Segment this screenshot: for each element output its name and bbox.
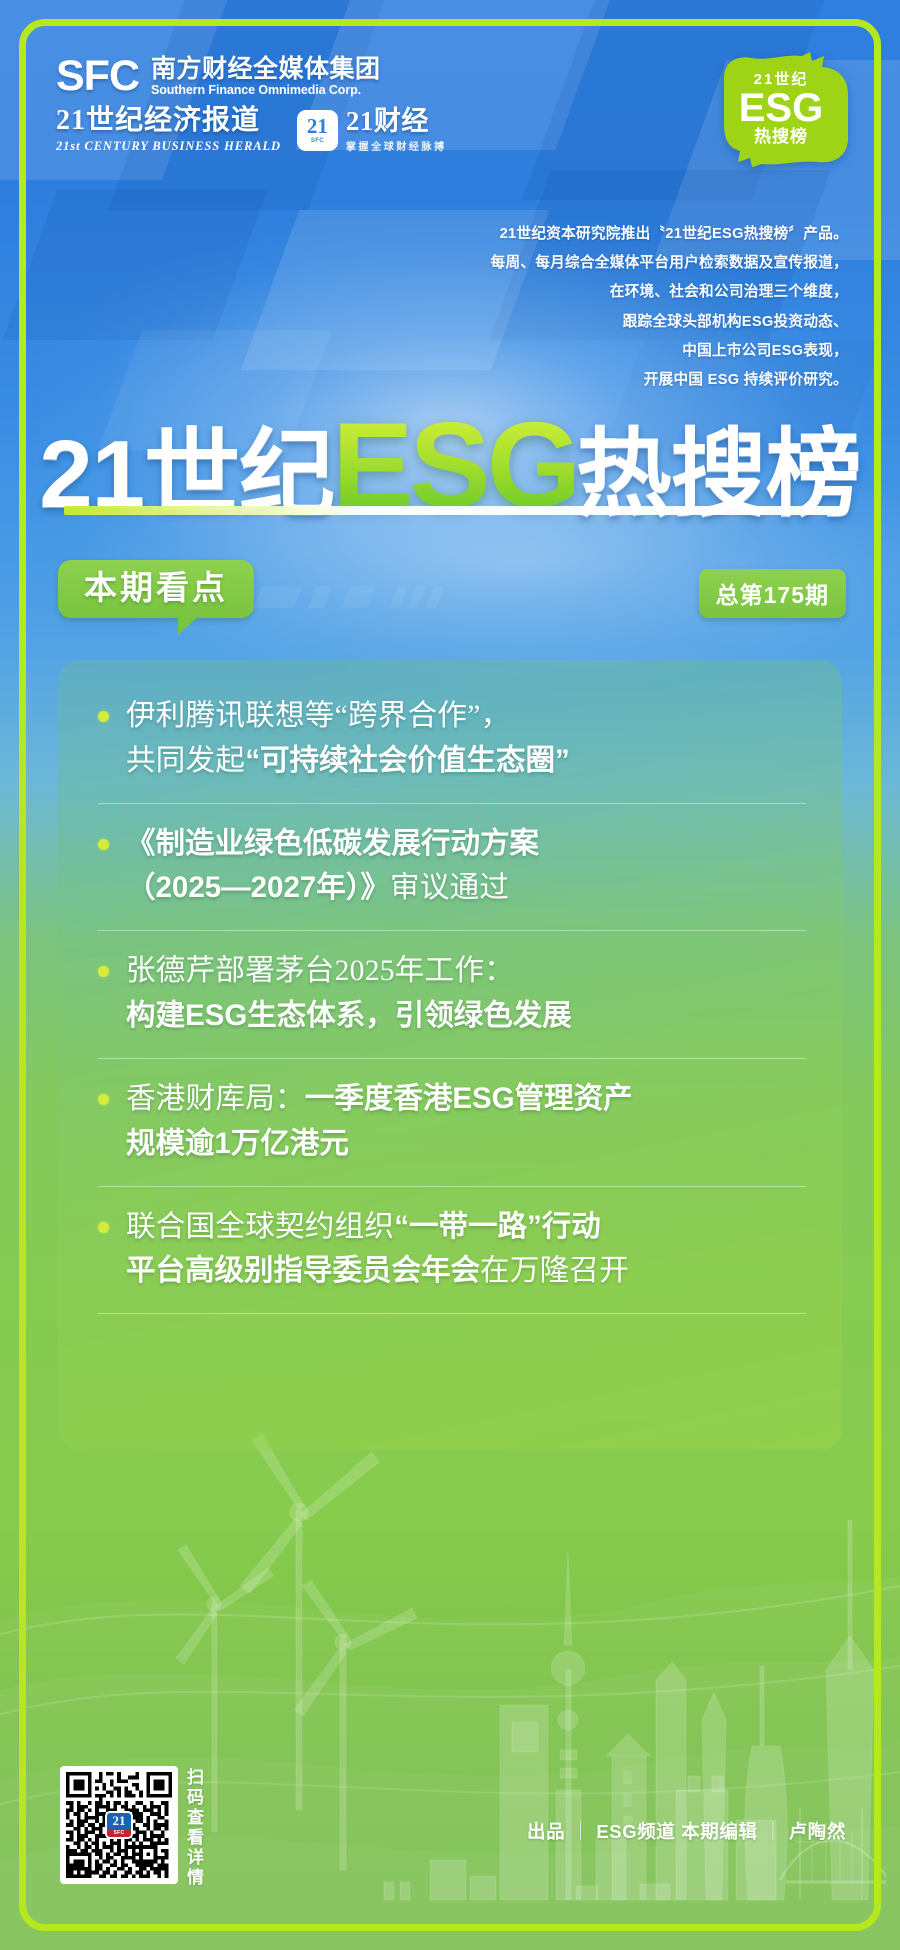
list-item[interactable]: 伊利腾讯联想等“跨界合作”， 共同发起“可持续社会价值生态圈” (92, 694, 810, 784)
headline-text: 共同发起 (126, 745, 245, 777)
headline-text: 香港财库局： (126, 1083, 305, 1115)
footer-producer-label: 出品 (527, 1821, 565, 1842)
description-line: 开展中国 ESG 持续评价研究。 (491, 366, 848, 395)
headline-text: 审议通过 (390, 872, 509, 904)
section-tab-label: 本期看点 (84, 569, 228, 606)
list-divider (98, 1186, 806, 1187)
bullet-icon (98, 1222, 109, 1233)
brand-header: SFC 南方财经全媒体集团 Southern Finance Omnimedia… (56, 56, 447, 154)
headline-text-emphasis: 平台高级别指导委员会年会 (126, 1254, 480, 1287)
hero-underline-bar (64, 506, 844, 515)
headline-list-card: 伊利腾讯联想等“跨界合作”， 共同发起“可持续社会价值生态圈” 《制造业绿色低碳… (58, 660, 842, 1450)
description-line: 跟踪全球头部机构ESG投资动态、 (491, 308, 848, 337)
herald-english-name: 21st CENTURY BUSINESS HERALD (56, 139, 281, 154)
headline-text: 在万隆召开 (480, 1255, 629, 1287)
footer-channel: ESG频道 (596, 1821, 675, 1842)
footer-divider: ｜ (764, 1821, 783, 1842)
list-item[interactable]: 《制造业绿色低碳发展行动方案 （2025—2027年）》审议通过 (92, 822, 810, 912)
esg-leaf-badge: 21世纪 ESG 热搜榜 (706, 52, 856, 167)
description-line: 在环境、社会和公司治理三个维度， (491, 278, 848, 307)
section-tab[interactable]: 本期看点 (58, 560, 254, 618)
headline-text: 张德芹部署茅台2025年工作： (126, 955, 514, 987)
list-item[interactable]: 香港财库局：一季度香港ESG管理资产 规模逾1万亿港元 (92, 1077, 810, 1167)
issue-number-badge: 总第175期 (699, 569, 846, 618)
qr-code-image[interactable]: 21 SFC (60, 1766, 178, 1884)
publication-logo-row: 21世纪经济报道 21st CENTURY BUSINESS HERALD 21… (56, 106, 447, 154)
list-divider (98, 803, 806, 804)
caijing-mark-number: 21 (307, 116, 328, 137)
headline-text-emphasis: 《制造业绿色低碳发展行动方案 (126, 827, 539, 860)
esg-hot-search-poster: SFC 南方财经全媒体集团 Southern Finance Omnimedia… (0, 0, 900, 1950)
headline-text: 联合国全球契约组织 (126, 1211, 394, 1243)
bullet-icon (98, 966, 109, 977)
sfc-abbr-logo: SFC (56, 56, 139, 97)
qr-logo-sub: SFC (107, 1829, 131, 1837)
qr-code-block[interactable]: 21 SFC 扫码查看详情 (60, 1766, 202, 1888)
footer-credits: 出品｜ESG频道 本期编辑｜卢陶然 (527, 1818, 846, 1844)
headline-text-emphasis: 一季度香港ESG管理资产 (305, 1082, 633, 1115)
issue-number-label: 总第175期 (716, 582, 829, 608)
bullet-icon (98, 711, 109, 722)
headline-text-emphasis: “可持续社会价值生态圈” (245, 744, 570, 777)
leaf-badge-main-text: ESG (739, 89, 823, 127)
qr-logo-number: 21 (107, 1813, 131, 1829)
bullet-icon (98, 839, 109, 850)
headline-text-emphasis: “一带一路”行动 (394, 1210, 601, 1243)
footer-divider: ｜ (571, 1821, 590, 1842)
qr-side-text: 扫码查看详情 (185, 1766, 202, 1888)
caijing-logo: 21 SFC 21财经 掌握全球财经脉搏 (297, 107, 447, 152)
list-item[interactable]: 张德芹部署茅台2025年工作： 构建ESG生态体系，引领绿色发展 (92, 949, 810, 1039)
description-line: 中国上市公司ESG表现， (491, 337, 848, 366)
caijing-mark-icon: 21 SFC (297, 110, 338, 151)
list-divider (98, 1313, 806, 1314)
sfc-logo-row: SFC 南方财经全媒体集团 Southern Finance Omnimedia… (56, 56, 447, 97)
list-divider (98, 930, 806, 931)
list-divider (98, 1058, 806, 1059)
qr-center-logo: 21 SFC (105, 1811, 133, 1839)
bullet-icon (98, 1094, 109, 1105)
footer-editor-name: 卢陶然 (789, 1821, 846, 1842)
herald-chinese-name: 21世纪经济报道 (56, 106, 281, 137)
list-item[interactable]: 联合国全球契约组织“一带一路”行动 平台高级别指导委员会年会在万隆召开 (92, 1205, 810, 1295)
headline-text: 伊利腾讯联想等“跨界合作”， (126, 700, 510, 732)
sfc-chinese-name: 南方财经全媒体集团 (151, 56, 381, 82)
caijing-mark-sub: SFC (311, 138, 324, 144)
leaf-badge-bottom-text: 热搜榜 (754, 127, 808, 147)
description-line: 每周、每月综合全媒体平台用户检索数据及宣传报道， (491, 249, 848, 278)
headline-text-emphasis: 构建ESG生态体系，引领绿色发展 (126, 999, 572, 1032)
product-description: 21世纪资本研究院推出〝21世纪ESG热搜榜〞产品。 每周、每月综合全媒体平台用… (491, 220, 848, 395)
caijing-slogan: 掌握全球财经脉搏 (346, 138, 447, 153)
sfc-english-name: Southern Finance Omnimedia Corp. (151, 83, 381, 97)
caijing-title: 21财经 (346, 107, 447, 135)
footer-editor-label: 本期编辑 (681, 1821, 757, 1842)
headline-text-emphasis: （2025—2027年）》 (126, 871, 390, 904)
headline-text-emphasis: 规模逾1万亿港元 (126, 1127, 349, 1160)
description-line: 21世纪资本研究院推出〝21世纪ESG热搜榜〞产品。 (491, 220, 848, 249)
